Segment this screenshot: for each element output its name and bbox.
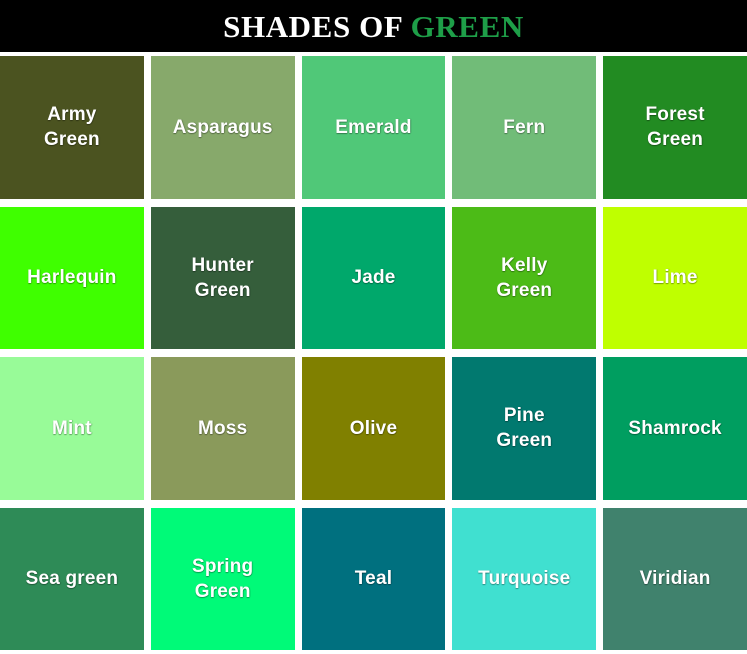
color-swatch[interactable]: Fern	[452, 56, 596, 199]
color-swatch-label: Mint	[46, 416, 98, 441]
color-swatch-label: Viridian	[634, 566, 717, 591]
color-swatch[interactable]: Turquoise	[452, 508, 596, 651]
color-swatch-label: Spring Green	[186, 554, 259, 604]
color-swatch-label: Kelly Green	[490, 253, 558, 303]
color-swatch-label: Forest Green	[639, 102, 710, 152]
page-title: SHADES OF GREEN	[223, 11, 524, 42]
color-swatch[interactable]: Emerald	[302, 56, 446, 199]
color-swatch-label: Asparagus	[167, 115, 279, 140]
color-swatch[interactable]: Army Green	[0, 56, 144, 199]
color-swatch[interactable]: Hunter Green	[151, 207, 295, 350]
color-swatch[interactable]: Teal	[302, 508, 446, 651]
color-swatch-label: Shamrock	[622, 416, 727, 441]
color-swatch-label: Sea green	[20, 566, 125, 591]
color-swatch-label: Pine Green	[490, 403, 558, 453]
color-swatch[interactable]: Lime	[603, 207, 747, 350]
color-swatch[interactable]: Sea green	[0, 508, 144, 651]
color-swatch-label: Jade	[345, 265, 401, 290]
color-swatch-label: Lime	[647, 265, 704, 290]
chart-header: SHADES OF GREEN	[0, 0, 747, 52]
color-swatch[interactable]: Mint	[0, 357, 144, 500]
color-swatch[interactable]: Jade	[302, 207, 446, 350]
color-swatch-label: Hunter Green	[185, 253, 259, 303]
color-swatch[interactable]: Kelly Green	[452, 207, 596, 350]
color-swatch[interactable]: Moss	[151, 357, 295, 500]
color-swatch-label: Teal	[349, 566, 398, 591]
color-swatch[interactable]: Forest Green	[603, 56, 747, 199]
color-chart-page: SHADES OF GREEN Army GreenAsparagusEmera…	[0, 0, 747, 654]
color-swatch[interactable]: Viridian	[603, 508, 747, 651]
color-swatch-label: Olive	[344, 416, 403, 441]
color-swatch[interactable]: Olive	[302, 357, 446, 500]
swatch-grid: Army GreenAsparagusEmeraldFernForest Gre…	[0, 52, 747, 654]
color-swatch[interactable]: Harlequin	[0, 207, 144, 350]
color-swatch-label: Turquoise	[472, 566, 576, 591]
color-swatch-label: Harlequin	[21, 265, 122, 290]
page-title-accent: GREEN	[411, 9, 524, 44]
color-swatch[interactable]: Asparagus	[151, 56, 295, 199]
color-swatch[interactable]: Shamrock	[603, 357, 747, 500]
color-swatch-label: Emerald	[329, 115, 417, 140]
color-swatch-label: Moss	[192, 416, 253, 441]
color-swatch-label: Army Green	[38, 102, 106, 152]
page-title-main: SHADES OF	[223, 9, 410, 44]
color-swatch-label: Fern	[497, 115, 551, 140]
color-swatch[interactable]: Pine Green	[452, 357, 596, 500]
color-swatch[interactable]: Spring Green	[151, 508, 295, 651]
